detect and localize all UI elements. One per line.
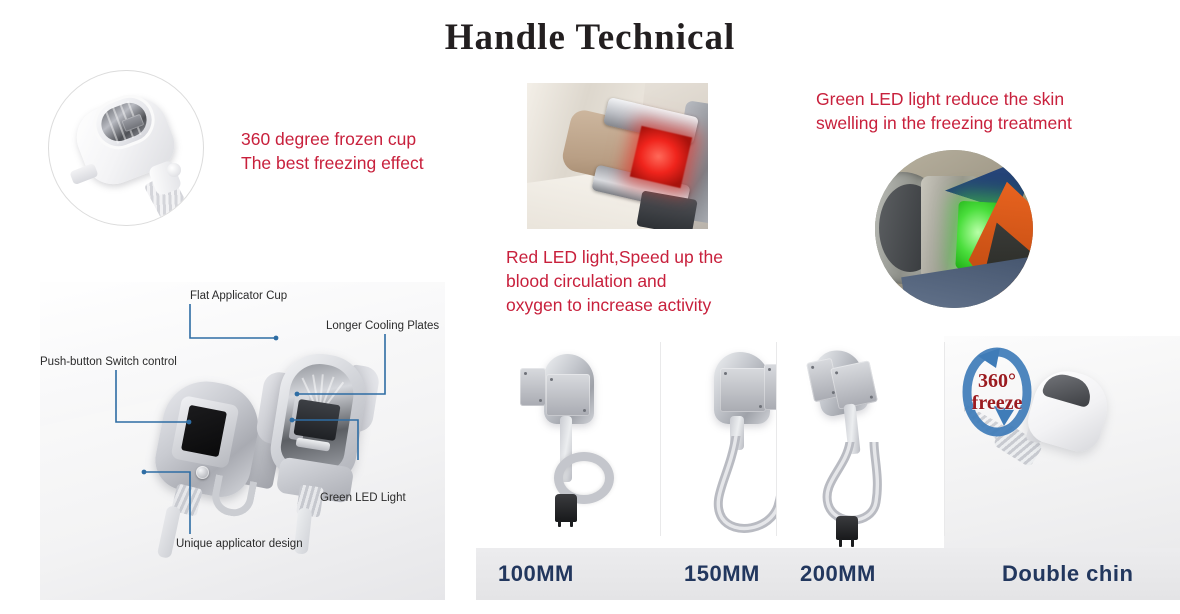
product-divider-3 [944, 342, 945, 536]
handle-200mm-artwork [788, 350, 938, 540]
infographic-page: Handle Technical 360 degree frozen cup T… [0, 0, 1180, 614]
product-label-100mm: 100MM [498, 561, 574, 587]
product-label-200mm: 200MM [800, 561, 876, 587]
product-cell-double-chin: 360° freeze Double chin [944, 336, 1180, 600]
product-label-150mm: 150MM [684, 561, 760, 587]
product-cell-100mm: 100MM [476, 336, 660, 600]
product-divider-2 [776, 342, 777, 536]
red-led-treatment-photo [527, 83, 708, 229]
frozen-cup-applicator-photo [48, 70, 204, 226]
product-label-double-chin: Double chin [1002, 561, 1133, 587]
badge-degrees-label: 360° [978, 370, 1016, 392]
product-cell-200mm: 200MM [776, 336, 944, 600]
badge-360-freeze: 360° freeze [954, 344, 1040, 440]
product-divider-1 [660, 342, 661, 536]
red-led-caption: Red LED light,Speed up the blood circula… [506, 245, 723, 317]
callout-flat-applicator-cup: Flat Applicator Cup [190, 290, 287, 302]
frozen-cup-artwork [49, 71, 203, 225]
callout-longer-cooling-plates: Longer Cooling Plates [326, 320, 439, 332]
product-label-bar-double-chin: Double chin [944, 548, 1180, 600]
green-led-caption: Green LED light reduce the skin swelling… [816, 87, 1072, 135]
product-label-bar-200mm: 200MM [776, 548, 944, 600]
frozen-cup-caption: 360 degree frozen cup The best freezing … [241, 127, 424, 175]
product-label-bar-100mm: 100MM [476, 548, 660, 600]
page-title: Handle Technical [0, 16, 1180, 59]
handle-detail-diagram: Flat Applicator Cup Longer Cooling Plate… [40, 282, 445, 600]
callout-push-button-switch-control: Push-button Switch control [40, 356, 177, 368]
callout-green-led-light: Green LED Light [320, 492, 406, 504]
product-size-strip: 100MM 150MM [476, 336, 1180, 600]
badge-freeze-label: freeze [972, 392, 1023, 414]
handle-100mm-artwork [496, 354, 640, 534]
green-led-treatment-photo [875, 150, 1033, 308]
callout-unique-applicator-design: Unique applicator design [176, 538, 303, 550]
